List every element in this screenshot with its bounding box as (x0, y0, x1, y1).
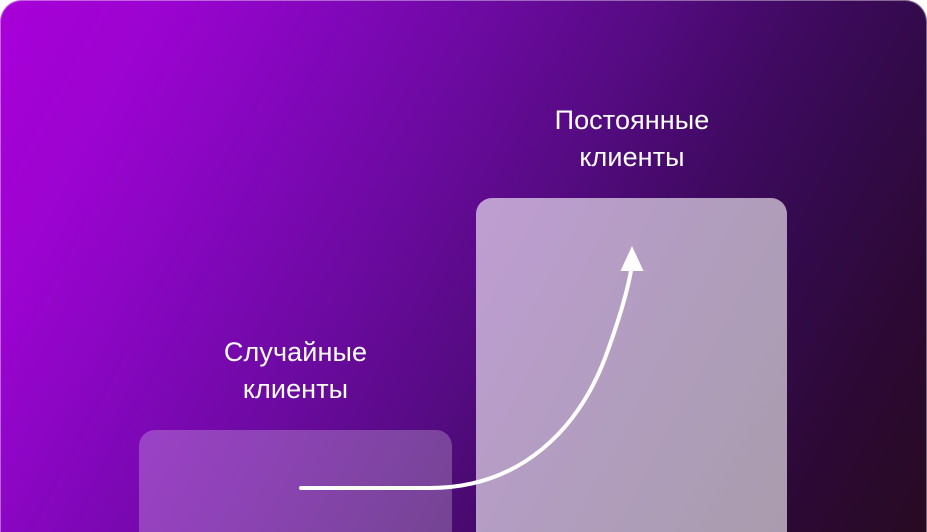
customer-growth-card: Постоянные клиенты Случайные клиенты (0, 0, 927, 532)
bar-casual-customers (139, 430, 452, 532)
bar-label-loyal-customers: Постоянные клиенты (477, 102, 787, 176)
bar-label-casual-customers: Случайные клиенты (140, 334, 451, 408)
bar-loyal-customers (476, 198, 787, 532)
